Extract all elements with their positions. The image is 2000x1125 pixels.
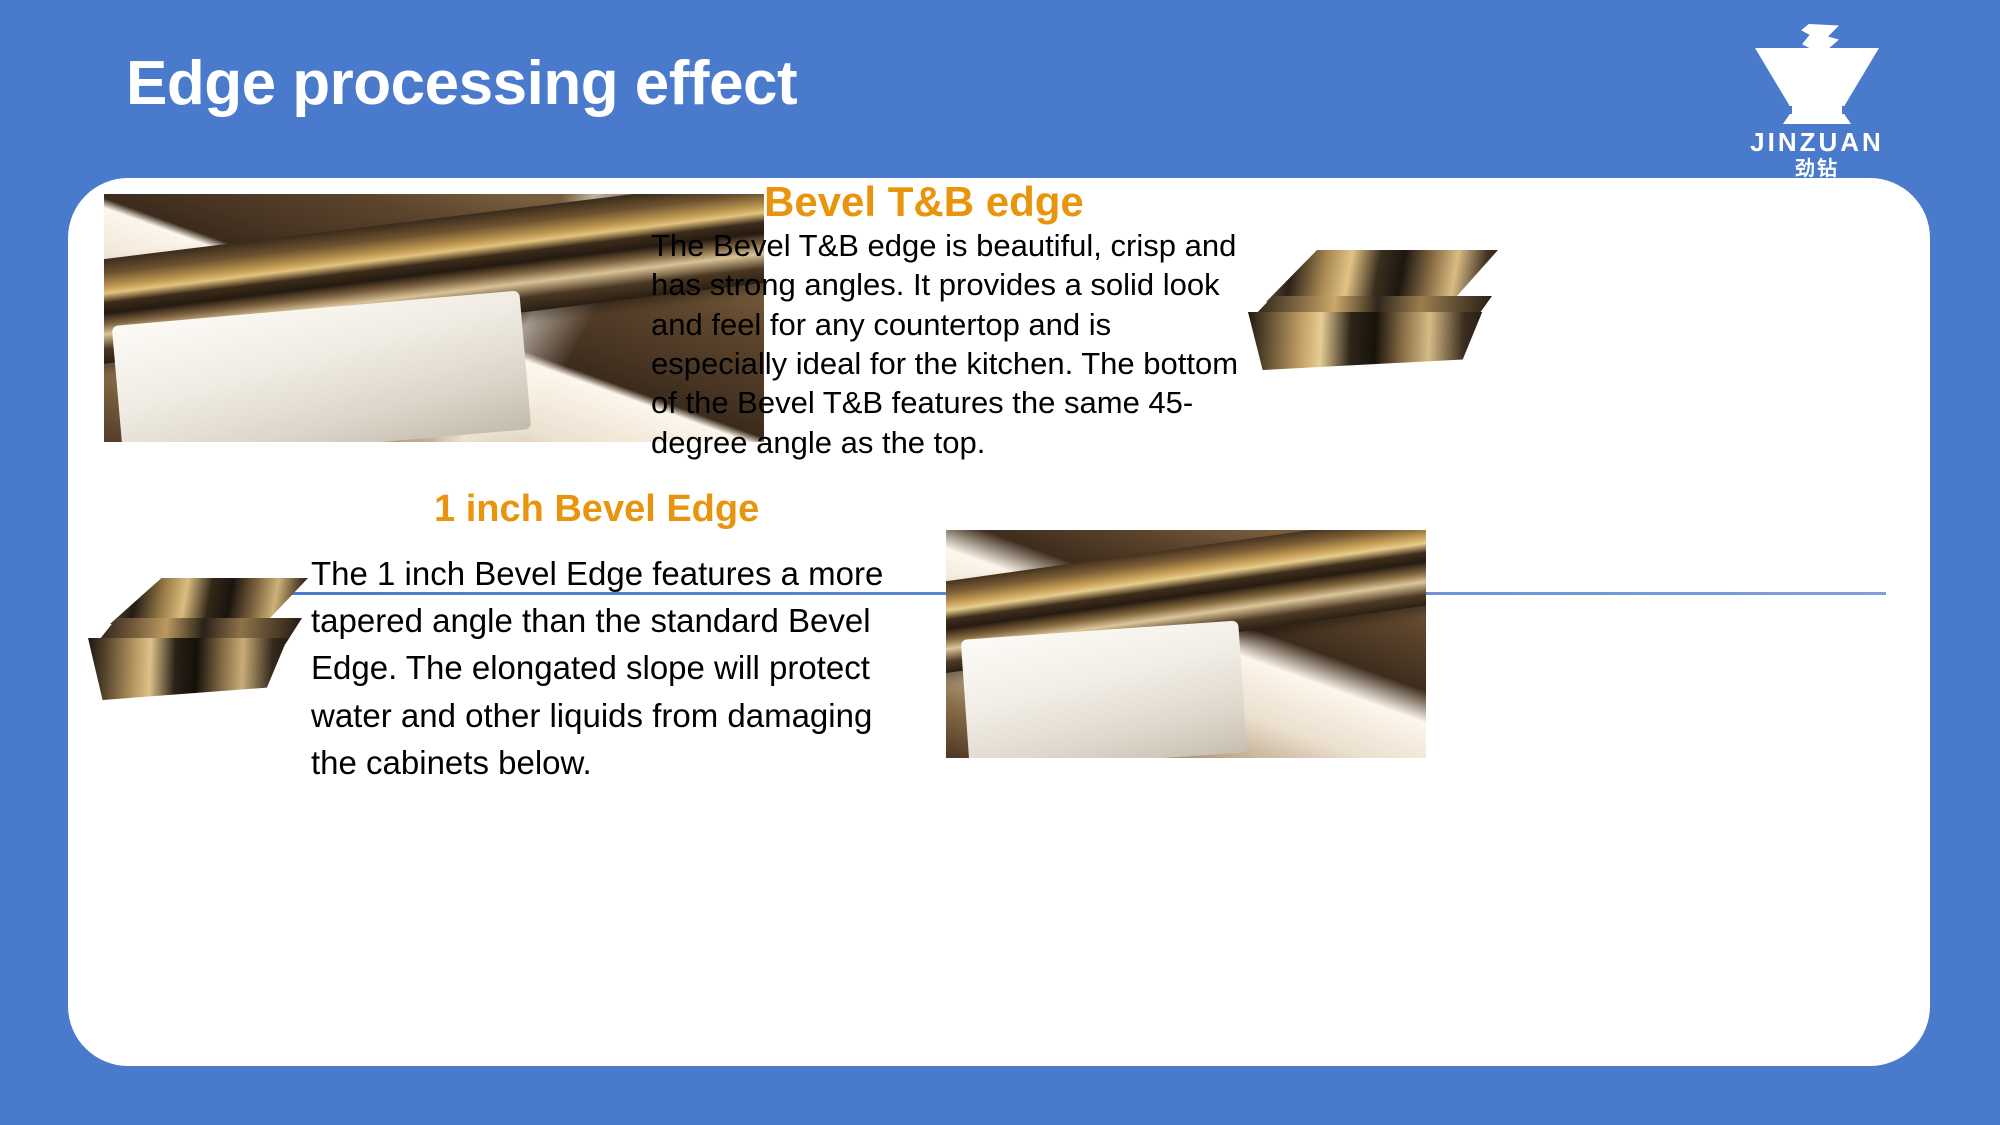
- bevel-tb-granite-sample: [1248, 250, 1498, 390]
- jinzuan-logo: JINZUAN 劲钻: [1722, 22, 1912, 172]
- page-title: Edge processing effect: [126, 48, 797, 119]
- section-body-bevel-tb: The Bevel T&B edge is beautiful, crisp a…: [651, 226, 1251, 462]
- sample-top-face: [1266, 250, 1498, 302]
- logo-chinese-name: 劲钻: [1722, 158, 1912, 180]
- content-card: Bevel T&B edge The Bevel T&B edge is bea…: [68, 178, 1930, 1066]
- section-heading-one-inch: 1 inch Bevel Edge: [434, 488, 759, 531]
- one-inch-countertop-photo: [946, 530, 1426, 758]
- logo-mark-icon: [1747, 22, 1887, 127]
- sample-front-face: [1248, 312, 1492, 370]
- logo-wordmark: JINZUAN: [1722, 129, 1912, 155]
- section-body-one-inch: The 1 inch Bevel Edge features a more ta…: [311, 550, 901, 786]
- logo-stem-shape: [1792, 102, 1842, 116]
- one-inch-granite-sample: [88, 578, 310, 718]
- logo-base-shape: [1783, 114, 1851, 124]
- slide-canvas: Edge processing effect JINZUAN 劲钻 Bevel …: [0, 0, 2000, 1125]
- sample-front-face: [88, 638, 296, 700]
- section-heading-bevel-tb: Bevel T&B edge: [764, 178, 1084, 226]
- sample-top-face: [110, 578, 308, 624]
